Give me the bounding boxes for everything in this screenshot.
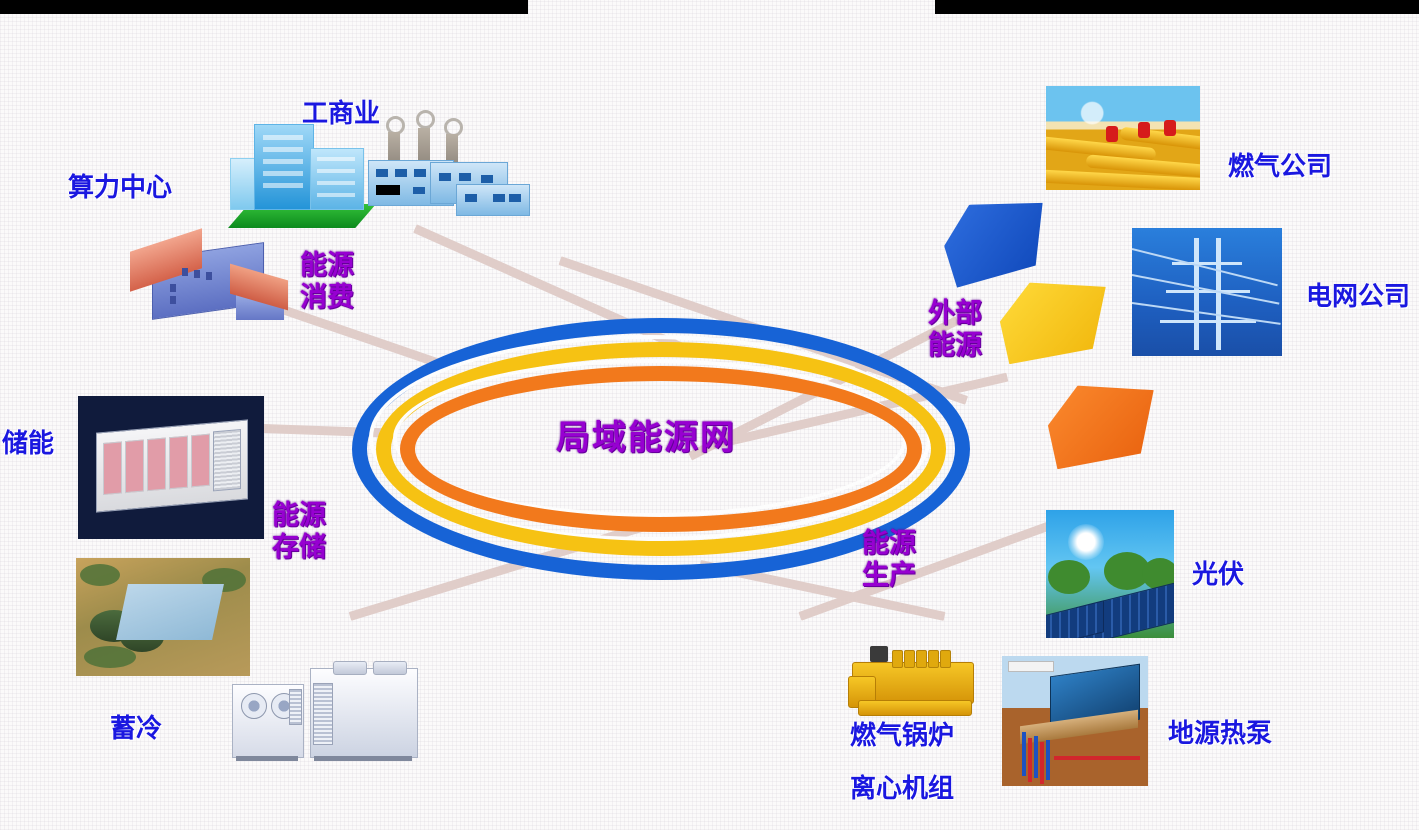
container-door: [103, 441, 122, 495]
node-label-commercial: 工商业: [302, 93, 380, 130]
gshp-hot-loop: [1028, 738, 1032, 782]
fan-icon: [241, 693, 267, 719]
generator-cylinder: [892, 650, 903, 668]
node-label-photovoltaic: 光伏: [1192, 554, 1244, 591]
category-energy-consumption: 能源 消费: [300, 250, 354, 314]
chevron-orange-arrow: [1045, 380, 1158, 469]
factory-window: [414, 169, 426, 177]
chiller-fan-cowl: [373, 661, 407, 675]
power-transmission-tower-photo: [1132, 228, 1282, 356]
chiller-grille: [313, 683, 333, 745]
building-window: [263, 159, 303, 164]
category-energy-consumption-line1: 能源: [300, 250, 354, 282]
gas-pipeline-photo: [1046, 86, 1200, 190]
category-energy-consumption-line2: 消费: [300, 282, 354, 314]
generator-cylinder: [916, 650, 927, 668]
power-line: [1132, 248, 1278, 286]
tower-crossarm: [1160, 320, 1256, 323]
diagram-canvas: 局域能源网: [0, 0, 1419, 830]
generator-cylinder: [928, 650, 939, 668]
factory-window: [395, 169, 407, 177]
chevron-gold-arrow: [997, 277, 1110, 364]
building-window: [317, 181, 355, 185]
node-label-cold-storage: 蓄冷: [110, 708, 162, 745]
tower-mast: [1216, 238, 1221, 350]
chiller-units-illustration: [232, 664, 422, 764]
factory-illustration: [368, 110, 532, 230]
top-black-bar-right: [935, 0, 1419, 14]
computing-center-illustration: [124, 228, 290, 338]
category-energy-storage: 能源 存储: [272, 500, 326, 564]
gshp-hot-loop: [1040, 742, 1044, 784]
category-external-energy: 外部 能源: [928, 298, 982, 362]
commercial-building-illustration: [228, 118, 380, 228]
container-door: [169, 436, 188, 490]
container-door: [125, 439, 144, 493]
category-energy-storage-line2: 存储: [272, 532, 326, 564]
category-energy-production: 能源 生产: [862, 528, 916, 592]
chiller-base: [236, 756, 298, 761]
category-energy-production-line1: 能源: [862, 528, 916, 560]
factory-window: [439, 173, 451, 181]
chiller-base: [314, 756, 412, 761]
building-window: [317, 193, 355, 197]
container-door: [147, 438, 166, 492]
generator-skid: [858, 700, 972, 716]
building-window: [263, 135, 303, 140]
factory-window: [509, 194, 521, 202]
building-window: [317, 169, 355, 173]
solar-panel-photo: [1046, 510, 1174, 638]
factory-annexe: [456, 184, 530, 216]
top-black-bar-left: [0, 0, 528, 14]
building-main-tower: [254, 124, 314, 210]
center-label: 局域能源网: [352, 318, 940, 550]
datacenter-window: [206, 272, 212, 280]
ground-source-heat-pump-diagram: [1002, 656, 1148, 786]
chiller-grille: [289, 689, 302, 725]
category-external-energy-line1: 外部: [928, 298, 982, 330]
solar-panel-array: [1046, 600, 1104, 638]
category-energy-storage-line1: 能源: [272, 500, 326, 532]
container-door: [191, 434, 210, 488]
node-label-grid-company: 电网公司: [1306, 276, 1410, 313]
sun-icon: [1068, 524, 1104, 560]
chiller-small-unit: [232, 684, 304, 758]
battery-container: [96, 419, 248, 512]
node-label-gas-company: 燃气公司: [1228, 146, 1332, 183]
building-window: [263, 147, 303, 152]
factory-window: [481, 175, 493, 183]
pipeline-valve: [1106, 126, 1118, 142]
generator-control-panel: [870, 646, 888, 662]
building-right-wing: [310, 148, 364, 210]
gshp-cold-loop: [1022, 732, 1026, 776]
datacenter-window: [170, 284, 176, 292]
generator-cylinder: [904, 650, 915, 668]
building-window: [263, 171, 303, 176]
chiller-fan-cowl: [333, 661, 367, 675]
node-label-ground-source-hp: 地源热泵: [1168, 713, 1272, 750]
building-window: [263, 183, 303, 188]
datacenter-window: [182, 268, 188, 276]
chiller-large-unit: [310, 668, 418, 758]
gshp-cold-loop: [1034, 736, 1038, 778]
plant-roof: [116, 584, 224, 640]
building-window: [317, 157, 355, 161]
category-energy-production-line2: 生产: [862, 560, 916, 592]
container-vent: [213, 429, 241, 491]
factory-window: [376, 169, 388, 177]
tree: [1048, 560, 1090, 594]
node-label-computing-center: 算力中心: [68, 167, 172, 204]
vegetation: [84, 646, 136, 668]
node-label-centrifugal-unit: 离心机组: [850, 768, 954, 805]
datacenter-window: [170, 296, 176, 304]
pipeline-valve: [1138, 122, 1150, 138]
factory-window: [413, 187, 425, 194]
node-label-energy-storage: 储能: [2, 423, 54, 460]
cold-storage-plant-aerial-photo: [76, 558, 250, 676]
factory-window: [465, 194, 477, 202]
gshp-hot-loop: [1054, 756, 1140, 760]
gshp-cold-loop: [1046, 740, 1050, 780]
category-external-energy-line2: 能源: [928, 330, 982, 362]
diagram-caption-tag: [1008, 661, 1054, 672]
pipeline-valve: [1164, 120, 1176, 136]
battery-storage-container-photo: [78, 396, 264, 539]
chevron-blue-arrow: [938, 193, 1053, 288]
generator-cylinder: [940, 650, 951, 668]
node-label-gas-boiler: 燃气锅炉: [850, 715, 954, 752]
smoke-puff-icon: [416, 110, 435, 129]
factory-window: [459, 173, 471, 181]
factory-doorway: [376, 185, 400, 195]
factory-window: [493, 194, 505, 202]
datacenter-window: [194, 270, 200, 278]
tower-mast: [1194, 238, 1199, 350]
central-ring: 局域能源网: [352, 318, 940, 550]
vegetation: [80, 564, 120, 586]
